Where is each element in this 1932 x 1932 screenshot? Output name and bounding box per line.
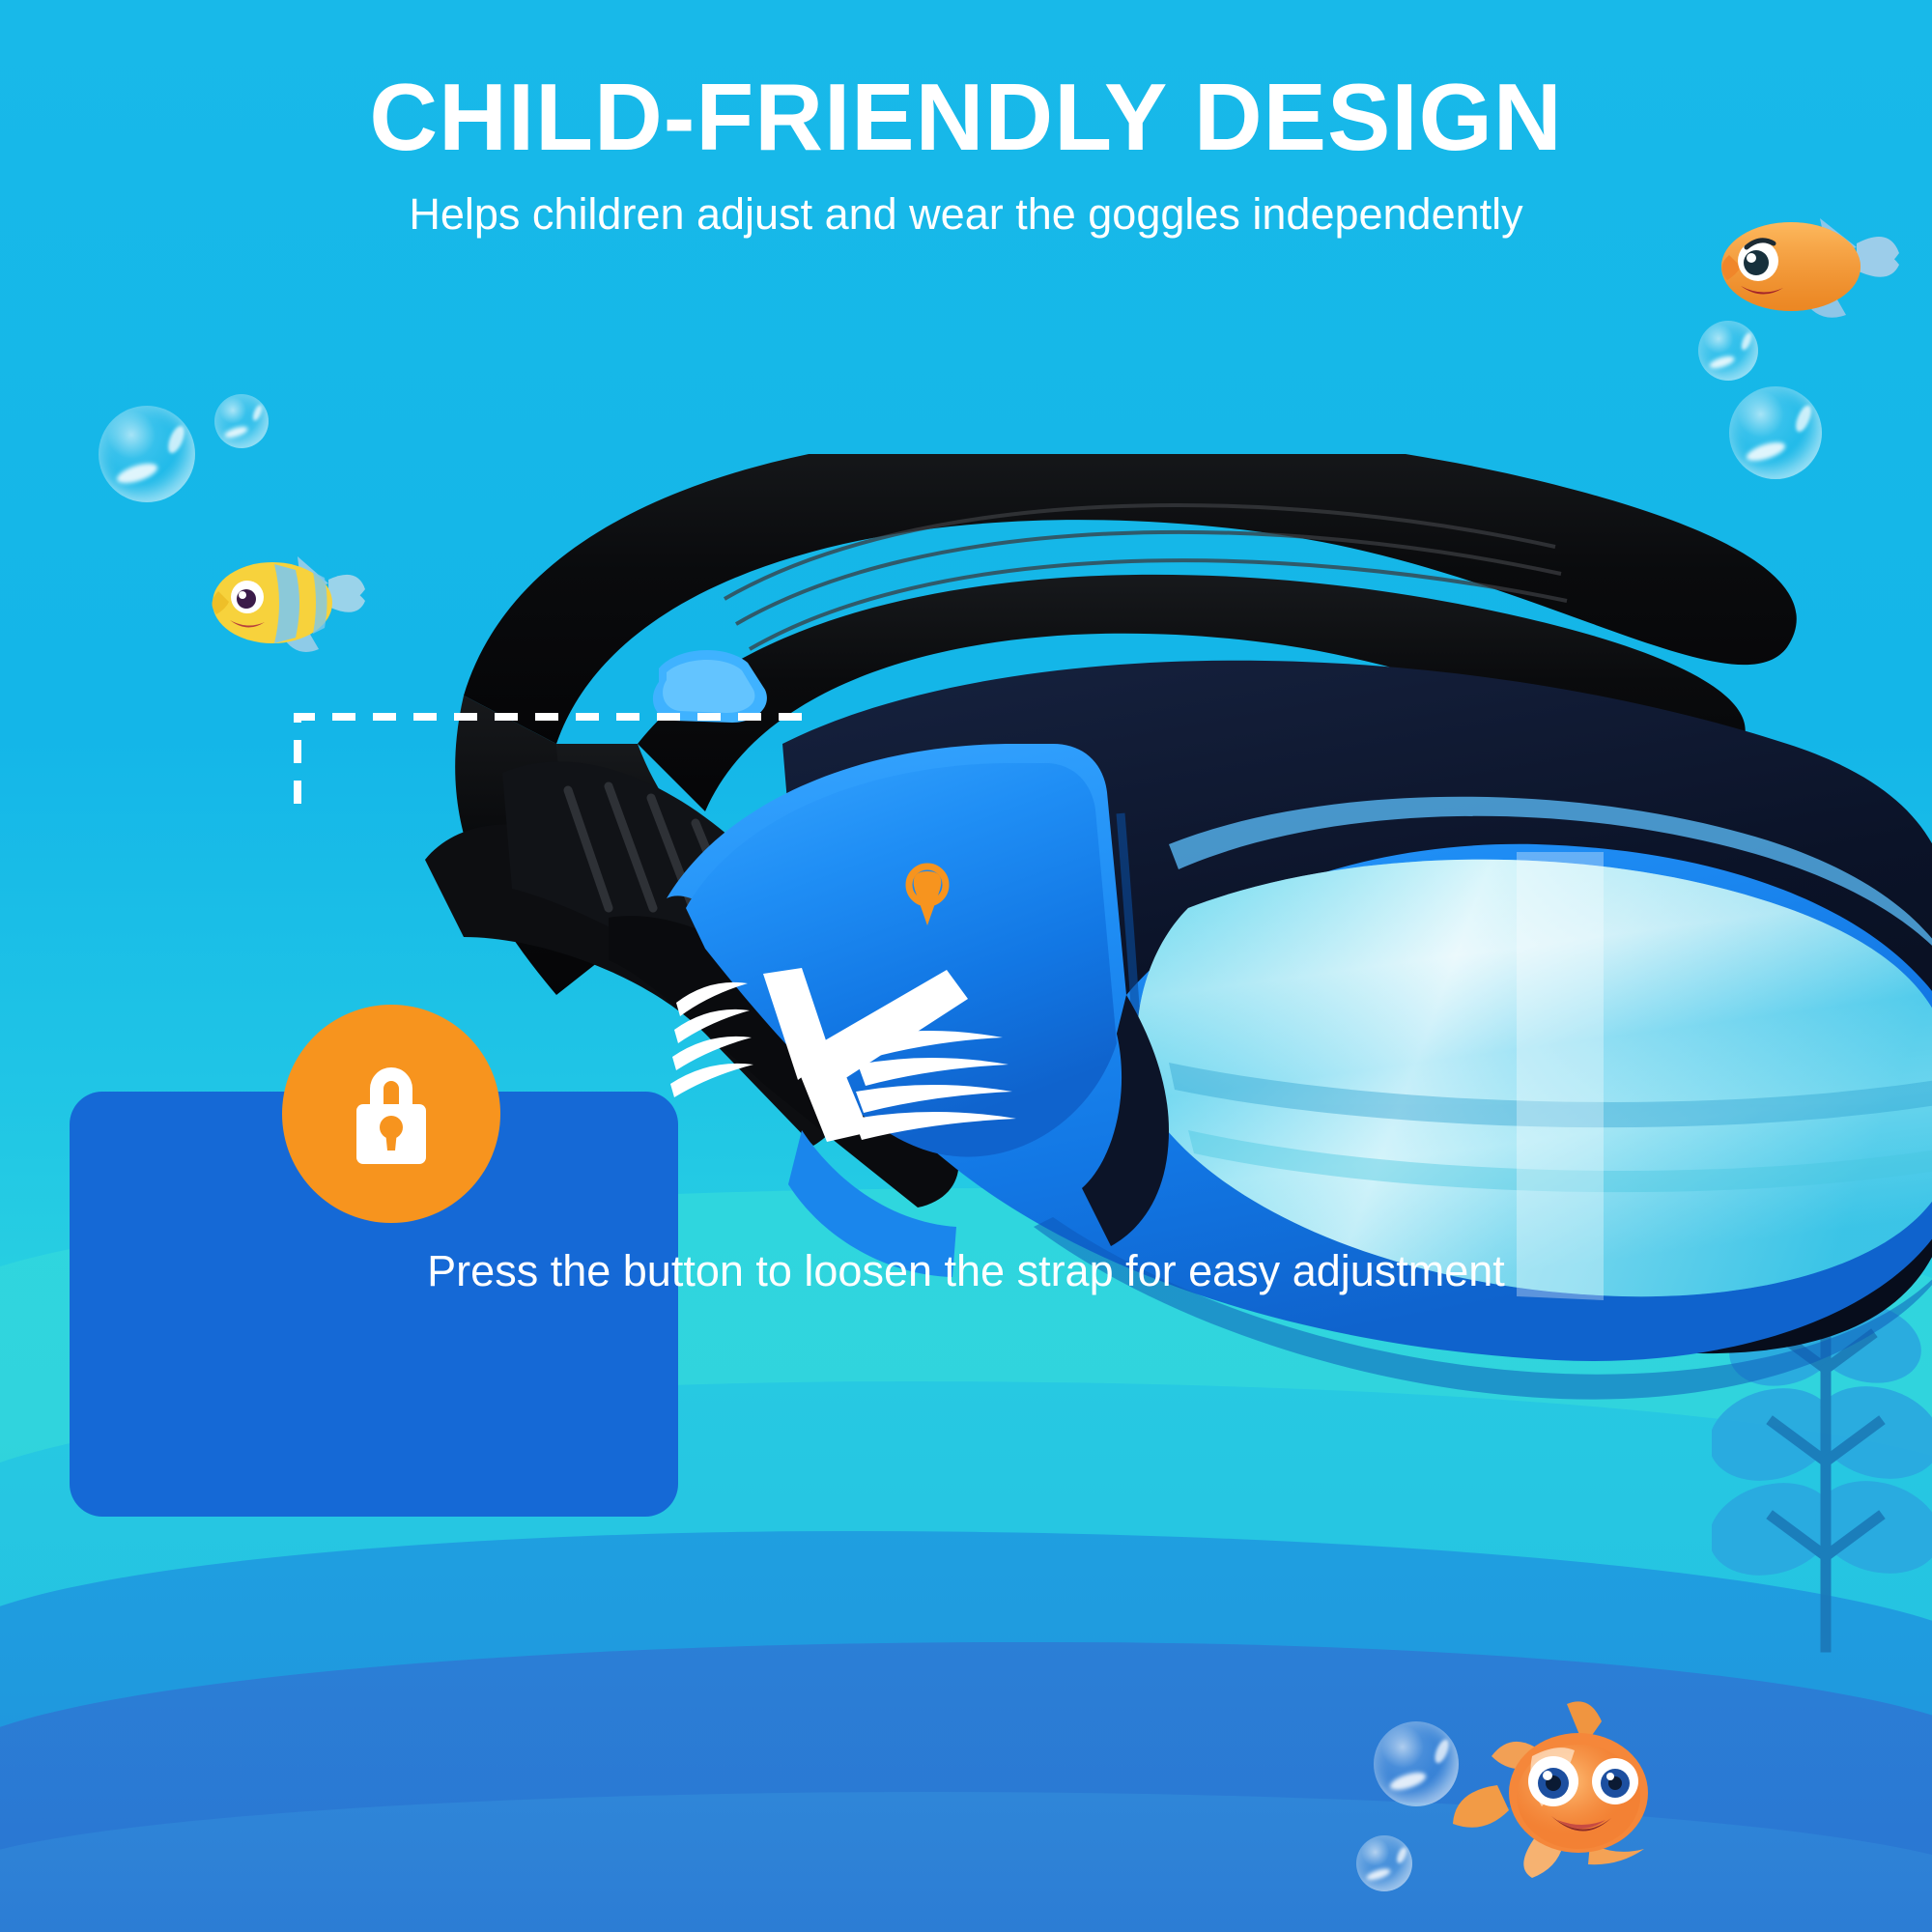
leader-marker-dot	[898, 860, 956, 929]
page-subtitle: Helps children adjust and wear the goggl…	[0, 189, 1932, 240]
bubble-top-left-large	[99, 406, 195, 502]
bubble-bottom-large	[1374, 1721, 1459, 1806]
page-title: CHILD-FRIENDLY DESIGN	[0, 70, 1932, 164]
infographic-canvas: CHILD-FRIENDLY DESIGN Helps children adj…	[0, 0, 1932, 1932]
bubble-bottom-small	[1356, 1835, 1412, 1891]
bubble-top-left-small	[214, 394, 269, 448]
lock-icon	[341, 1056, 441, 1172]
lock-badge	[282, 1005, 500, 1223]
fish-goldfish-bottom	[1449, 1689, 1700, 1882]
header: CHILD-FRIENDLY DESIGN Helps children adj…	[0, 0, 1932, 240]
bubble-top-right-small	[1698, 321, 1758, 381]
callout-text: Press the button to loosen the strap for…	[116, 1241, 1816, 1301]
